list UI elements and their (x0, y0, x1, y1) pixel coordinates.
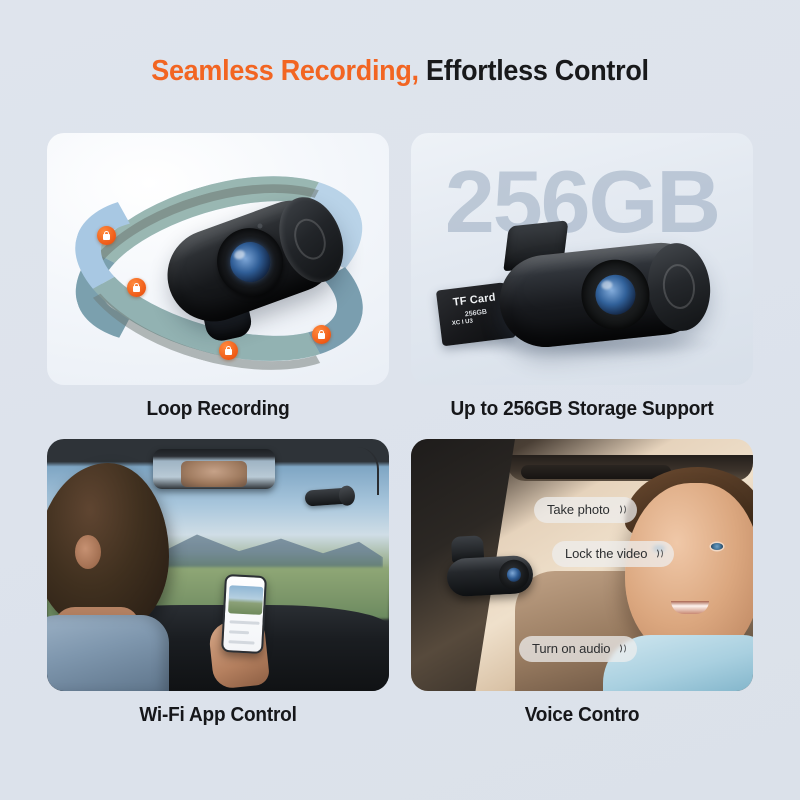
mounted-dash-cam (304, 487, 351, 506)
wifi-scene-photo (47, 439, 389, 691)
feature-card-grid: Loop Recording 256GB TF Card 256GB XC I … (47, 133, 753, 727)
lock-icon (127, 278, 146, 297)
page-title-rest: Effortless Control (419, 55, 649, 87)
feature-cell-wifi-app-control: Wi-Fi App Control (47, 439, 389, 727)
sound-wave-icon (615, 503, 626, 516)
page-title: Seamless Recording, Effortless Control (28, 55, 772, 88)
voice-command-bubble-turn-on-audio: Turn on audio (519, 636, 637, 662)
voice-scene-photo: Take photo Lock the video Turn on audio (411, 439, 753, 691)
driver-head (47, 463, 169, 631)
feature-card-loop-recording[interactable] (47, 133, 389, 385)
feature-label-storage-support: Up to 256GB Storage Support (420, 398, 745, 421)
voice-command-text: Take photo (547, 502, 610, 517)
mirror-reflection-face (181, 461, 247, 487)
driver-ear (75, 535, 101, 569)
sound-wave-icon (652, 547, 663, 560)
feature-card-voice-control[interactable]: Take photo Lock the video Turn on audio (411, 439, 753, 691)
feature-card-storage-support[interactable]: 256GB TF Card 256GB XC I U3 (411, 133, 753, 385)
mounted-dash-cam (446, 555, 534, 597)
feature-cell-storage-support: 256GB TF Card 256GB XC I U3 Up to 256GB … (411, 133, 753, 421)
page-title-accent: Seamless Recording (151, 55, 411, 87)
voice-command-bubble-take-photo: Take photo (534, 497, 637, 523)
lock-icon (312, 325, 331, 344)
smartphone-app (221, 574, 267, 654)
feature-label-voice-control: Voice Contro (420, 704, 745, 727)
feature-cell-voice-control: Take photo Lock the video Turn on audio … (411, 439, 753, 727)
sound-wave-icon (615, 642, 626, 655)
feature-label-wifi-app-control: Wi-Fi App Control (56, 704, 381, 727)
voice-command-text: Turn on audio (532, 641, 610, 656)
app-control-row (229, 620, 259, 625)
feature-card-wifi-app-control[interactable] (47, 439, 389, 691)
voice-command-text: Lock the video (565, 546, 647, 561)
app-control-row (229, 630, 249, 634)
lock-icon (219, 341, 238, 360)
feature-label-loop-recording: Loop Recording (56, 398, 381, 421)
passenger-face (625, 483, 753, 659)
rear-view-mirror (521, 465, 671, 479)
app-control-row (228, 640, 254, 644)
microsd-card-spec: XC I U3 (452, 318, 474, 327)
rear-view-mirror (153, 449, 275, 489)
passenger-eye (711, 543, 723, 550)
product-feature-page: Seamless Recording, Effortless Control (0, 0, 800, 800)
voice-command-bubble-lock-video: Lock the video (552, 541, 674, 567)
dash-cam-cable (349, 447, 379, 495)
feature-cell-loop-recording: Loop Recording (47, 133, 389, 421)
loop-recording-illustration (47, 133, 389, 385)
lock-icon (97, 226, 116, 245)
app-preview-image (228, 585, 263, 615)
driver-jacket (47, 615, 169, 691)
